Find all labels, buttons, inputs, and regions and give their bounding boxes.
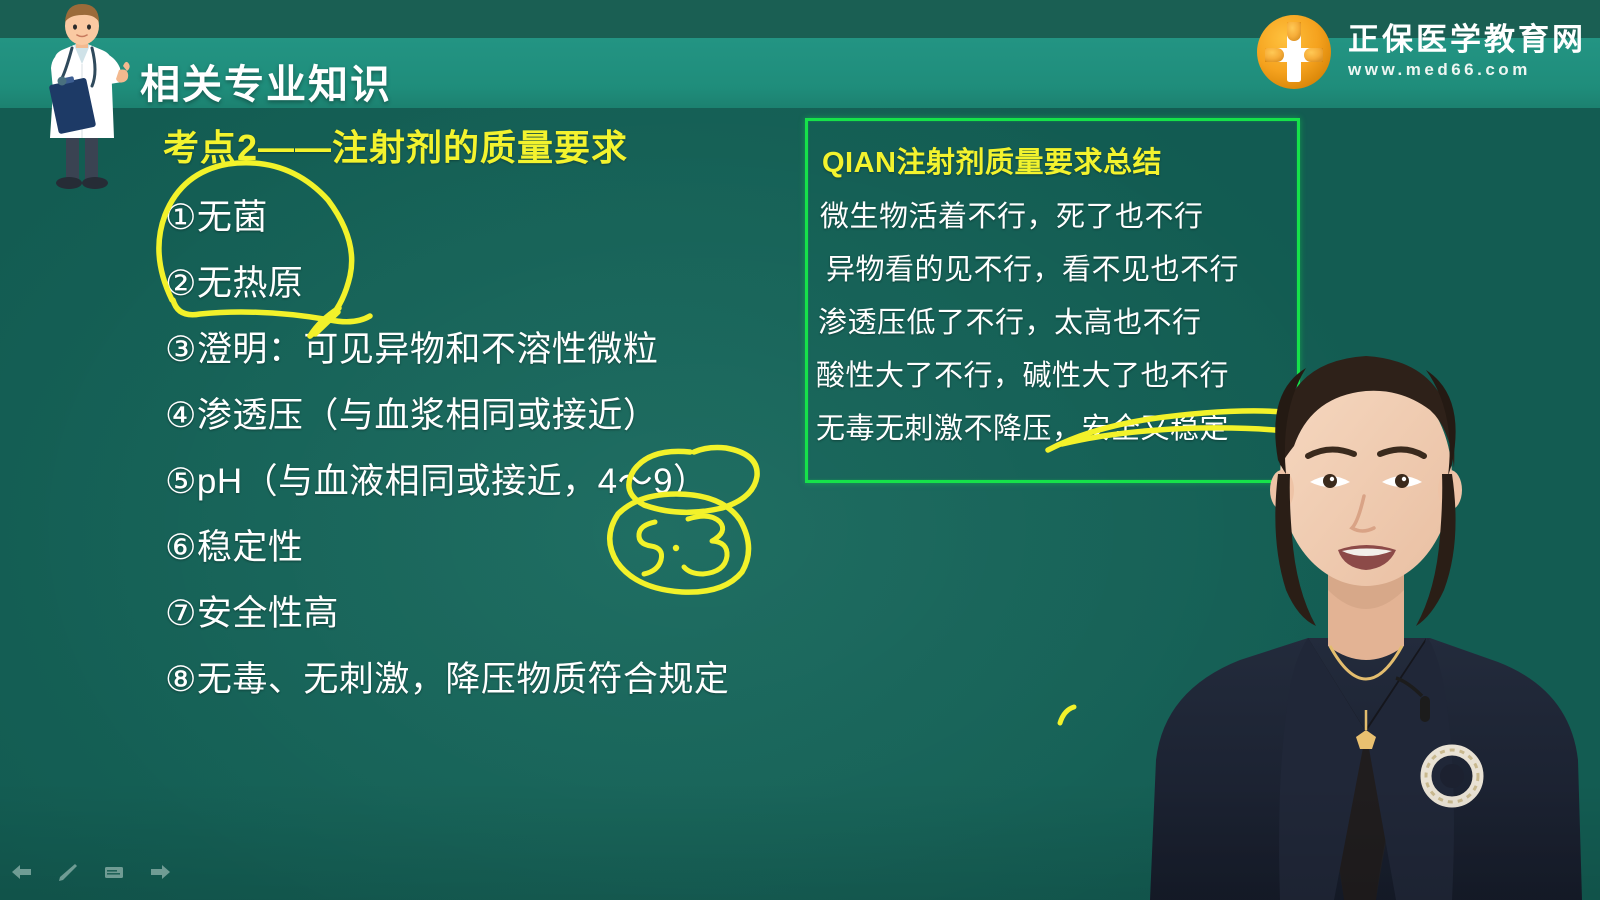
brand-logo: 正保医学教育网 www.med66.com <box>1254 12 1586 92</box>
back-arrow-icon[interactable] <box>10 862 34 882</box>
brand-url: www.med66.com <box>1348 60 1531 80</box>
brand-name: 正保医学教育网 <box>1348 24 1586 57</box>
forward-arrow-icon[interactable] <box>148 862 172 882</box>
note-item: ⑤pH（与血液相同或接近，4～9） <box>165 464 709 499</box>
note-item: ④渗透压（与血浆相同或接近） <box>165 398 658 433</box>
note-item: ①无菌 <box>165 200 268 235</box>
player-toolbar[interactable] <box>10 862 172 882</box>
note-item: ②无热原 <box>165 266 303 301</box>
note-item: ⑧无毒、无刺激，降压物质符合规定 <box>165 662 729 697</box>
summary-title: QIAN注射剂质量要求总结 <box>822 139 1162 181</box>
pen-icon[interactable] <box>56 862 80 882</box>
note-item: ③澄明：可见异物和不溶性微粒 <box>165 332 658 367</box>
presenter-video <box>1130 260 1600 900</box>
page-title: 相关专业知识 <box>140 52 392 110</box>
eraser-icon[interactable] <box>102 862 126 882</box>
medical-cross-logo-icon <box>1254 12 1334 92</box>
doctor-illustration <box>22 0 142 193</box>
note-item: ⑦安全性高 <box>165 596 339 631</box>
summary-line: 微生物活着不行，死了也不行 <box>820 193 1204 235</box>
note-item: ⑥稳定性 <box>165 530 303 565</box>
lecture-video-frame: 相关专业知识 正保医学教育网 <box>0 0 1600 900</box>
